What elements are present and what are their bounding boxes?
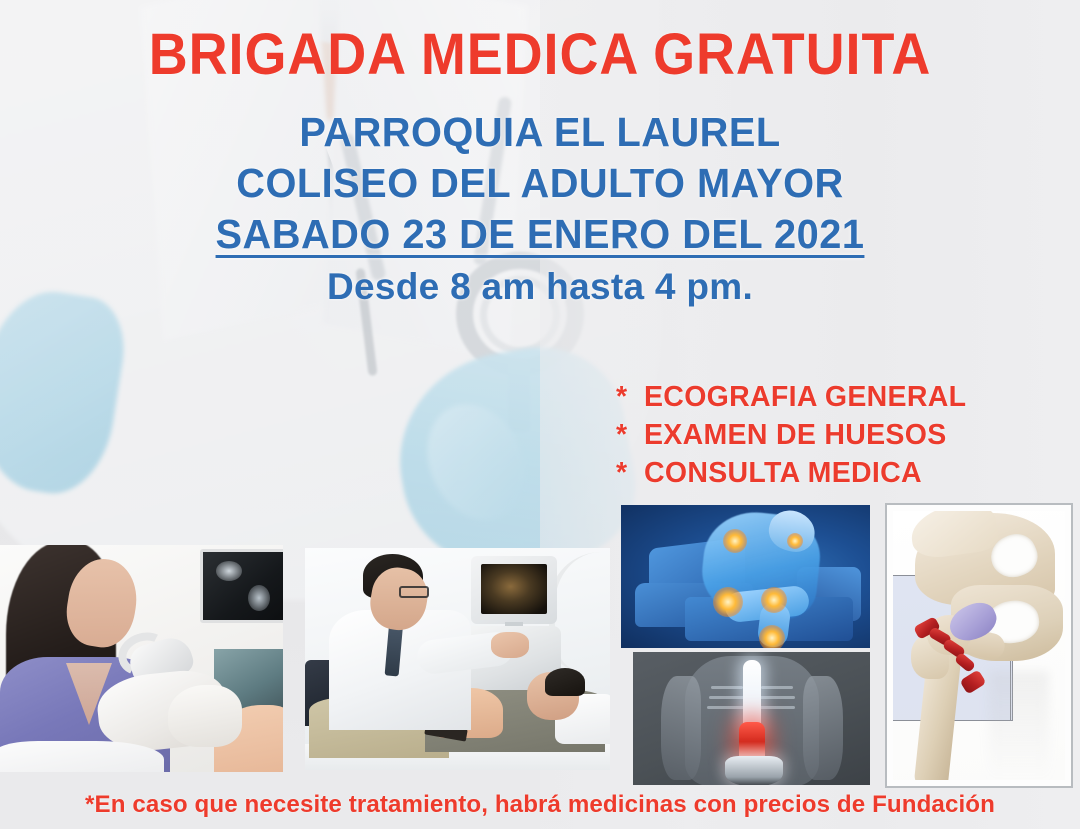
ultrasound-monitor-screen [481,564,547,614]
lower-back-pain-illustration [633,652,870,785]
drop-shadow [989,671,1049,780]
rib [711,686,743,689]
asterisk-bullet-icon: * [616,416,644,454]
eyeglasses-icon [399,586,429,598]
doctor-hand [491,632,529,658]
arm-right [803,676,843,780]
illustration-canvas [893,511,1065,780]
pain-hotspot-icon [787,533,803,549]
asterisk-bullet-icon: * [616,378,644,416]
service-label: CONSULTA MEDICA [644,457,922,489]
event-venue: COLISEO DEL ADULTO MAYOR [16,158,1064,209]
latex-glove-hand [168,685,242,747]
arm-left [661,676,701,780]
ultrasound-male-doctor [305,548,610,770]
event-date: SABADO 23 DE ENERO DEL 2021 [16,209,1064,260]
ultrasound-female-sonographer [0,545,283,772]
service-label: ECOGRAFIA GENERAL [644,381,966,413]
page-title: BRIGADA MEDICA GRATUITA [38,24,1042,86]
event-details: PARROQUIA EL LAUREL COLISEO DEL ADULTO M… [0,107,1080,312]
joint-pain-illustration [621,505,870,648]
services-list: *ECOGRAFIA GENERAL *EXAMEN DE HUESOS *CO… [616,378,966,492]
rib [709,696,745,699]
asterisk-bullet-icon: * [616,454,644,492]
exam-bed-sheet [0,741,164,772]
pelvis [725,756,783,785]
rib [707,706,745,709]
ultrasound-monitor [200,549,283,623]
service-item: *EXAMEN DE HUESOS [616,416,966,454]
rib [761,686,793,689]
pain-hotspot-icon [723,529,747,553]
ultrasound-image-speckle [248,585,270,611]
event-hours: Desde 8 am hasta 4 pm. [0,262,1080,312]
rib [759,696,795,699]
pain-hotspot-icon [759,625,785,648]
patient-hair [545,668,585,696]
footnote-text: *En caso que necesite tratamiento, habrá… [8,791,1072,819]
service-item: *ECOGRAFIA GENERAL [616,378,966,416]
pain-hotspot-icon [761,587,787,613]
hip-bone-anatomy [885,503,1073,788]
service-item: *CONSULTA MEDICA [616,454,966,492]
rib [757,706,795,709]
pain-hotspot-icon [713,587,743,617]
ultrasound-image-speckle [216,561,242,581]
service-label: EXAMEN DE HUESOS [644,419,947,451]
event-location-parish: PARROQUIA EL LAUREL [16,107,1064,158]
